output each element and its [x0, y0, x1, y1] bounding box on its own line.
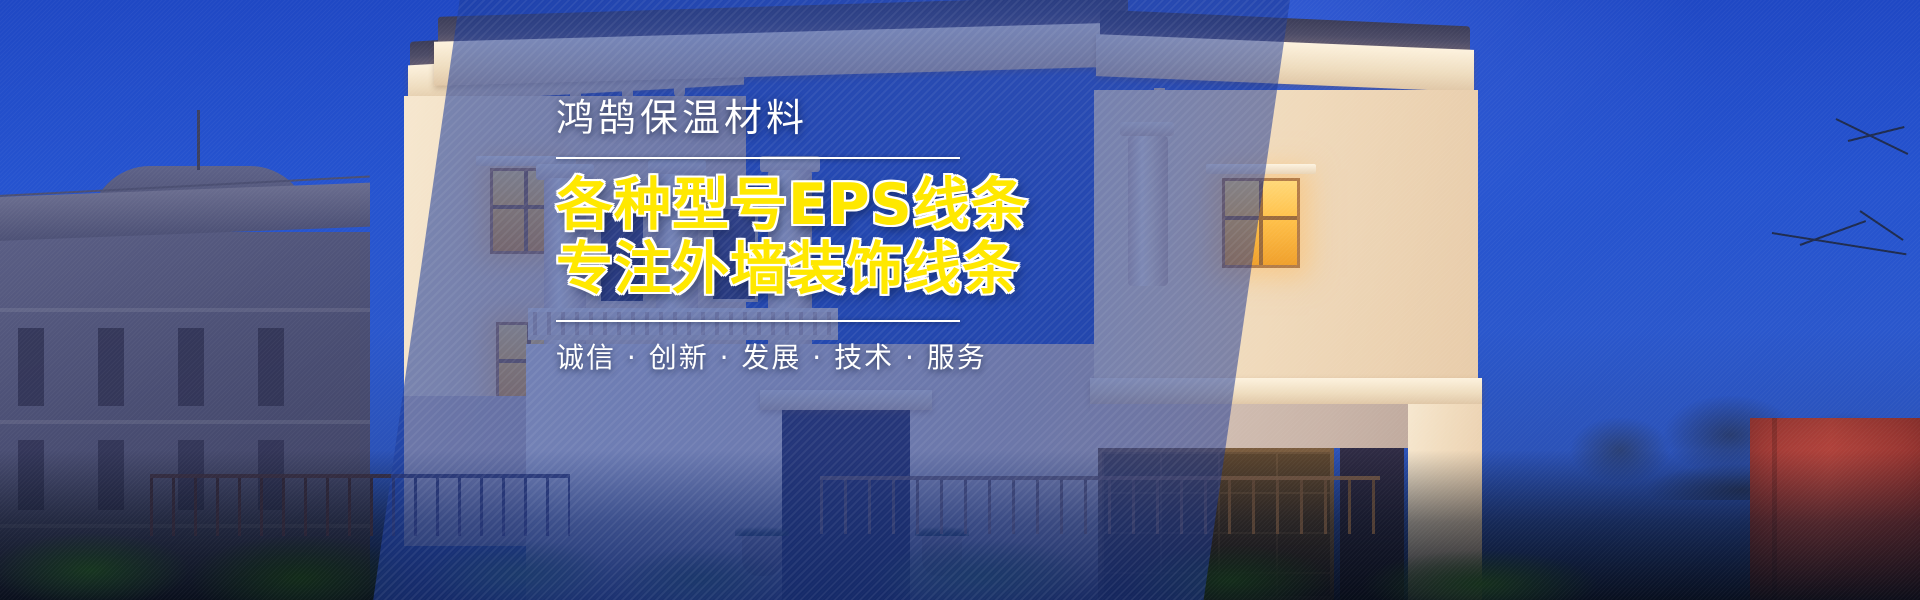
garage-cornice — [1090, 378, 1482, 404]
dark-window — [178, 328, 204, 406]
window-lintel — [1206, 164, 1316, 174]
iron-fence-center — [820, 476, 1380, 534]
dark-window — [18, 328, 44, 406]
banner-copy-block: 鸿鹄保温材料 各种型号EPS线条 专注外墙装饰线条 诚信 · 创新 · 发展 ·… — [556, 96, 1196, 376]
brand-name: 鸿鹄保温材料 — [556, 96, 1196, 141]
door-lintel — [760, 390, 932, 410]
dark-window — [98, 328, 124, 406]
divider-rule-top — [556, 157, 960, 159]
headline-line-2: 专注外墙装饰线条 — [556, 237, 1196, 301]
dentil-block — [674, 80, 685, 97]
dark-window — [258, 328, 284, 406]
facade-band — [0, 420, 370, 424]
headline-line-1: 各种型号EPS线条 — [556, 173, 1196, 237]
roof-mast — [197, 110, 200, 170]
lit-window — [1222, 178, 1300, 268]
facade-band — [0, 308, 370, 312]
divider-rule-bottom — [556, 320, 960, 322]
tagline: 诚信 · 创新 · 发展 · 技术 · 服务 — [556, 336, 1196, 376]
iron-fence-left — [150, 474, 570, 536]
promotional-banner: 鸿鹄保温材料 各种型号EPS线条 专注外墙装饰线条 诚信 · 创新 · 发展 ·… — [0, 0, 1920, 600]
